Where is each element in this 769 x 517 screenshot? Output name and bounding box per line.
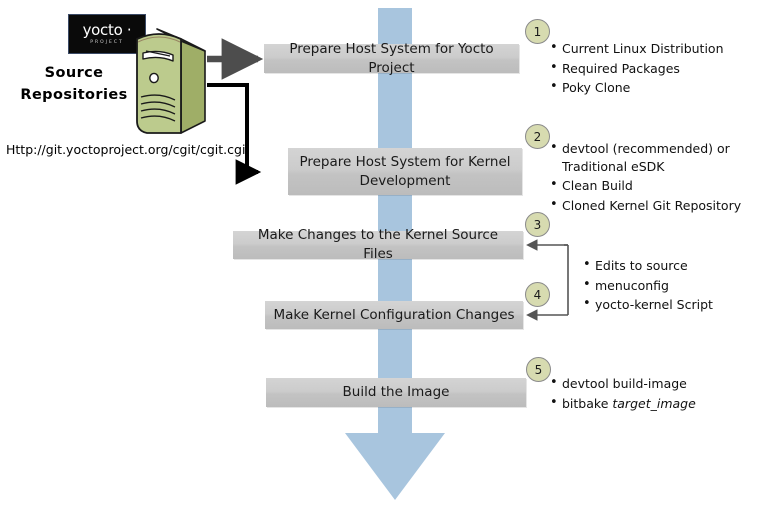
list-item: menuconfig [582,277,762,295]
step-2-number: 2 [534,130,542,144]
step-5-box[interactable]: Build the Image [266,378,526,407]
step-5-box-label: Build the Image [343,383,450,402]
logo-wordmark: yocto · [83,23,132,38]
step-4-number: 4 [534,288,542,302]
step-4-box-label: Make Kernel Configuration Changes [273,306,514,325]
source-label-line2: Repositories [14,84,134,106]
step-2-box-label-line2: Development [360,172,451,191]
list-item: Poky Clone [549,79,759,97]
list-item: Cloned Kernel Git Repository [549,197,765,215]
server-tower-icon [133,25,209,143]
step-5-bullets: devtool build-image bitbake target_image [549,375,749,414]
source-label-line1: Source [14,62,134,84]
logo-subtext: PROJECT [90,39,123,46]
list-item: Required Packages [549,60,759,78]
bitbake-target-arg: target_image [612,396,695,411]
list-item: yocto-kernel Script [582,296,762,314]
list-item: devtool build-image [549,375,749,393]
step-2-box[interactable]: Prepare Host System for Kernel Developme… [288,148,522,195]
step-5-number: 5 [535,363,543,377]
step-5-number-badge: 5 [526,357,551,382]
step-3-number: 3 [534,218,542,232]
step-1-number: 1 [534,25,542,39]
list-item: Edits to source [582,257,762,275]
diagram-canvas: yocto · PROJECT Source Repositories Http… [0,0,769,517]
step-4-number-badge: 4 [525,282,550,307]
list-item: devtool (recommended) or Traditional eSD… [549,140,765,175]
step-1-bullets: Current Linux Distribution Required Pack… [549,40,759,99]
steps-3-4-shared-bullets: Edits to source menuconfig yocto-kernel … [582,257,762,316]
step-2-number-badge: 2 [525,124,550,149]
step-2-box-label-line1: Prepare Host System for Kernel [299,153,510,172]
source-repository-url: Http://git.yoctoproject.org/cgit/cgit.cg… [6,142,245,157]
source-repositories-label: Source Repositories [14,62,134,106]
list-item: Clean Build [549,177,765,195]
bitbake-command: bitbake [562,396,612,411]
step-3-number-badge: 3 [525,212,550,237]
step-1-box[interactable]: Prepare Host System for Yocto Project [264,44,519,73]
step-1-box-label: Prepare Host System for Yocto Project [272,40,511,78]
step-1-number-badge: 1 [525,19,550,44]
step-3-box[interactable]: Make Changes to the Kernel Source Files [233,231,523,259]
step-2-bullets: devtool (recommended) or Traditional eSD… [549,140,765,216]
list-item: Current Linux Distribution [549,40,759,58]
step-3-box-label: Make Changes to the Kernel Source Files [241,226,515,264]
list-item: bitbake target_image [549,395,749,413]
step-4-box[interactable]: Make Kernel Configuration Changes [265,301,523,329]
